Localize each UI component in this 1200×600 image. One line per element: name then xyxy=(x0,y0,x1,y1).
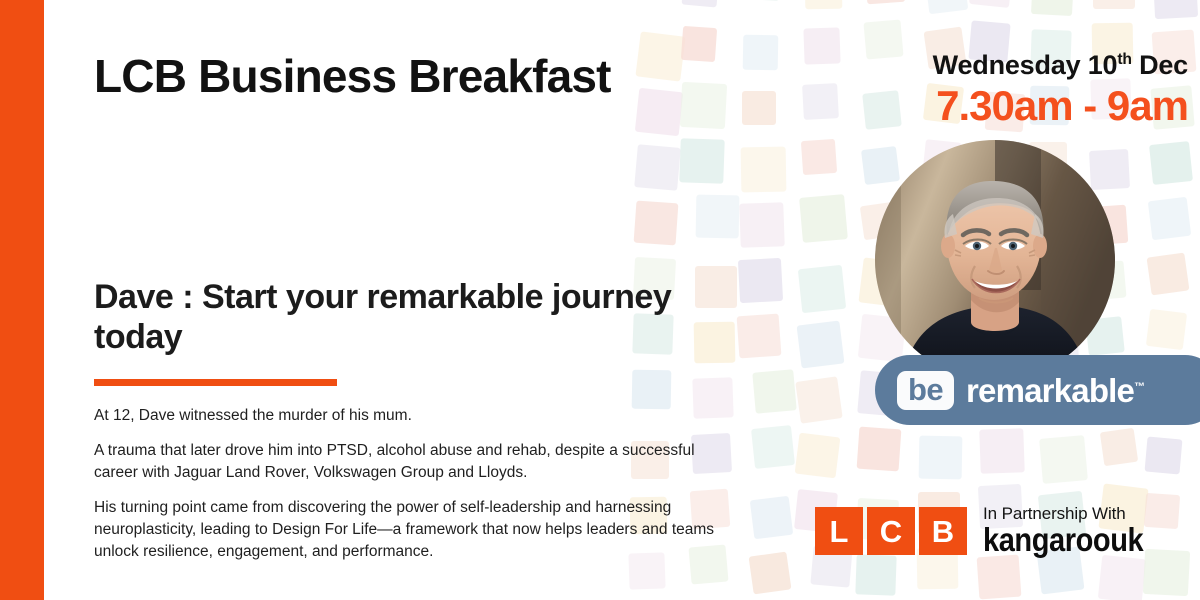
confetti-square xyxy=(741,147,787,193)
talk-description: At 12, Dave witnessed the murder of his … xyxy=(94,405,719,563)
confetti-square xyxy=(795,433,841,479)
confetti-square xyxy=(743,0,780,1)
confetti-square xyxy=(738,258,783,303)
lcb-letter-b: B xyxy=(919,507,967,555)
confetti-square xyxy=(737,314,782,359)
confetti-square xyxy=(797,321,845,369)
confetti-square xyxy=(795,376,842,423)
confetti-square xyxy=(752,369,796,413)
confetti-square xyxy=(739,202,785,248)
confetti-square xyxy=(798,265,846,313)
remarkable-wordmark: remarkable™ xyxy=(966,374,1145,407)
event-date-day: Wednesday 10 xyxy=(933,50,1118,80)
event-banner: LCB Business Breakfast Dave : Start your… xyxy=(0,0,1200,600)
partnership-block: In Partnership With kangaroouk xyxy=(983,505,1165,555)
description-paragraph: His turning point came from discovering … xyxy=(94,497,719,563)
confetti-square xyxy=(803,27,840,64)
event-title: LCB Business Breakfast xyxy=(94,52,611,100)
confetti-square xyxy=(742,91,776,125)
remarkable-text: remarkable xyxy=(966,372,1134,409)
lcb-logo: L C B xyxy=(815,507,967,555)
description-paragraph: A trauma that later drove him into PTSD,… xyxy=(94,440,719,484)
event-date: Wednesday 10th Dec xyxy=(933,50,1188,81)
speaker-photo-illustration xyxy=(875,140,1115,380)
confetti-square xyxy=(750,496,793,539)
right-content-column: Wednesday 10th Dec 7.30am - 9am xyxy=(840,0,1200,600)
confetti-square xyxy=(749,552,792,595)
left-accent-bar xyxy=(0,0,44,600)
left-content-column: LCB Business Breakfast Dave : Start your… xyxy=(94,0,734,600)
event-date-ordinal: th xyxy=(1117,51,1131,68)
event-time: 7.30am - 9am xyxy=(936,82,1188,130)
trademark-symbol: ™ xyxy=(1134,381,1145,393)
event-date-month: Dec xyxy=(1132,50,1188,80)
confetti-square xyxy=(802,83,839,120)
confetti-square xyxy=(805,0,843,9)
talk-title: Dave : Start your remarkable journey tod… xyxy=(94,277,694,357)
lcb-letter-c: C xyxy=(867,507,915,555)
confetti-square xyxy=(801,139,837,175)
description-paragraph: At 12, Dave witnessed the murder of his … xyxy=(94,405,719,427)
be-logo-box: be xyxy=(897,371,954,410)
partner-wordmark: kangaroouk xyxy=(983,524,1143,555)
lcb-letter-l: L xyxy=(815,507,863,555)
footer-logos: L C B In Partnership With kangaroouk xyxy=(815,505,1165,555)
confetti-square xyxy=(743,35,779,71)
confetti-square xyxy=(751,425,795,469)
be-remarkable-logo: be remarkable™ xyxy=(875,355,1200,425)
speaker-photo xyxy=(875,140,1115,380)
orange-divider-rule xyxy=(94,379,337,386)
